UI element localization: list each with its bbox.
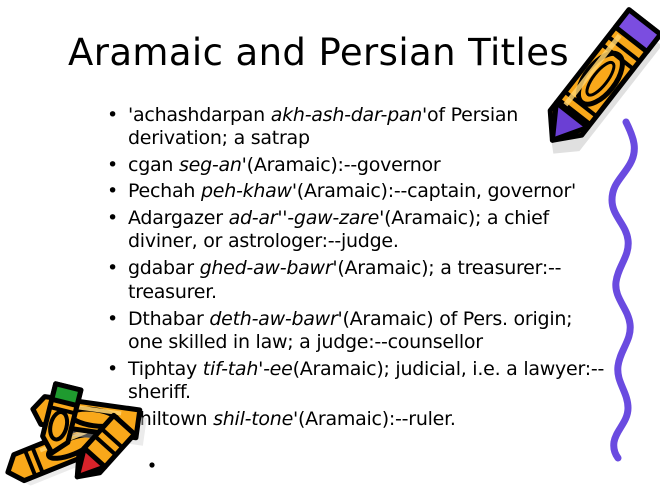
term-transliteration: akh-ash-dar-pan' (271, 104, 427, 126)
bullet-marker: • (107, 180, 118, 203)
crayon-icon-purple (536, 0, 660, 166)
term-transliteration: tif-tah'-ee (203, 358, 293, 380)
term-transliteration: shil-tone' (213, 408, 298, 430)
bullet-marker: • (107, 257, 118, 280)
list-item-text: 'achashdarpan akh-ash-dar-pan'of Persian… (128, 104, 518, 149)
term-transliteration: ad-ar''-gaw-zare' (229, 207, 385, 229)
list-item: • Pechah peh-khaw'(Aramaic):--captain, g… (100, 180, 610, 203)
term-roman: 'achashdarpan (128, 104, 271, 126)
list-item-text: Dthabar deth-aw-bawr'(Aramaic) of Pers. … (128, 308, 572, 353)
term-roman: Pechah (128, 180, 201, 202)
bullet-marker: • (107, 154, 118, 177)
list-item: • Shiltown shil-tone'(Aramaic):--ruler. (100, 408, 610, 431)
bullet-marker: • (107, 104, 118, 127)
list-item-text: Adargazer ad-ar''-gaw-zare'(Aramaic); a … (128, 207, 549, 252)
slide-canvas: Aramaic and Persian Titles • 'achashdarp… (0, 0, 660, 495)
page-title: Aramaic and Persian Titles (68, 32, 588, 73)
bullet-marker: • (107, 207, 118, 230)
speck-dot (149, 462, 154, 467)
crossed-crayons-icon (10, 380, 160, 495)
list-item: • cgan seg-an'(Aramaic):--governor (100, 154, 610, 177)
purple-squiggle-icon (582, 120, 660, 460)
term-transliteration: peh-khaw' (201, 180, 297, 202)
term-roman: Tiphtay (128, 358, 203, 380)
term-definition: (Aramaic):--ruler. (298, 408, 456, 430)
term-roman: cgan (128, 154, 179, 176)
list-item-text: Shiltown shil-tone'(Aramaic):--ruler. (128, 408, 456, 430)
term-definition: (Aramaic):--governor (247, 154, 441, 176)
list-item: • Dthabar deth-aw-bawr'(Aramaic) of Pers… (100, 308, 610, 354)
list-item-text: cgan seg-an'(Aramaic):--governor (128, 154, 441, 176)
term-transliteration: seg-an' (179, 154, 247, 176)
list-item: • Tiphtay tif-tah'-ee(Aramaic); judicial… (100, 358, 610, 404)
list-item-text: gdabar ghed-aw-bawr'(Aramaic); a treasur… (128, 257, 561, 302)
list-item: • 'achashdarpan akh-ash-dar-pan'of Persi… (100, 104, 610, 150)
term-roman: Dthabar (128, 308, 209, 330)
term-transliteration: deth-aw-bawr' (209, 308, 342, 330)
term-roman: Adargazer (128, 207, 229, 229)
list-item: • gdabar ghed-aw-bawr'(Aramaic); a treas… (100, 257, 610, 303)
term-roman: gdabar (128, 257, 200, 279)
list-item-text: Tiphtay tif-tah'-ee(Aramaic); judicial, … (128, 358, 604, 403)
bullet-marker: • (107, 308, 118, 331)
list-item: • Adargazer ad-ar''-gaw-zare'(Aramaic); … (100, 207, 610, 253)
term-definition: (Aramaic):--captain, governor' (297, 180, 576, 202)
bullet-list: • 'achashdarpan akh-ash-dar-pan'of Persi… (100, 104, 610, 433)
list-item-text: Pechah peh-khaw'(Aramaic):--captain, gov… (128, 180, 576, 202)
bullet-marker: • (107, 358, 118, 381)
term-transliteration: ghed-aw-bawr' (200, 257, 338, 279)
